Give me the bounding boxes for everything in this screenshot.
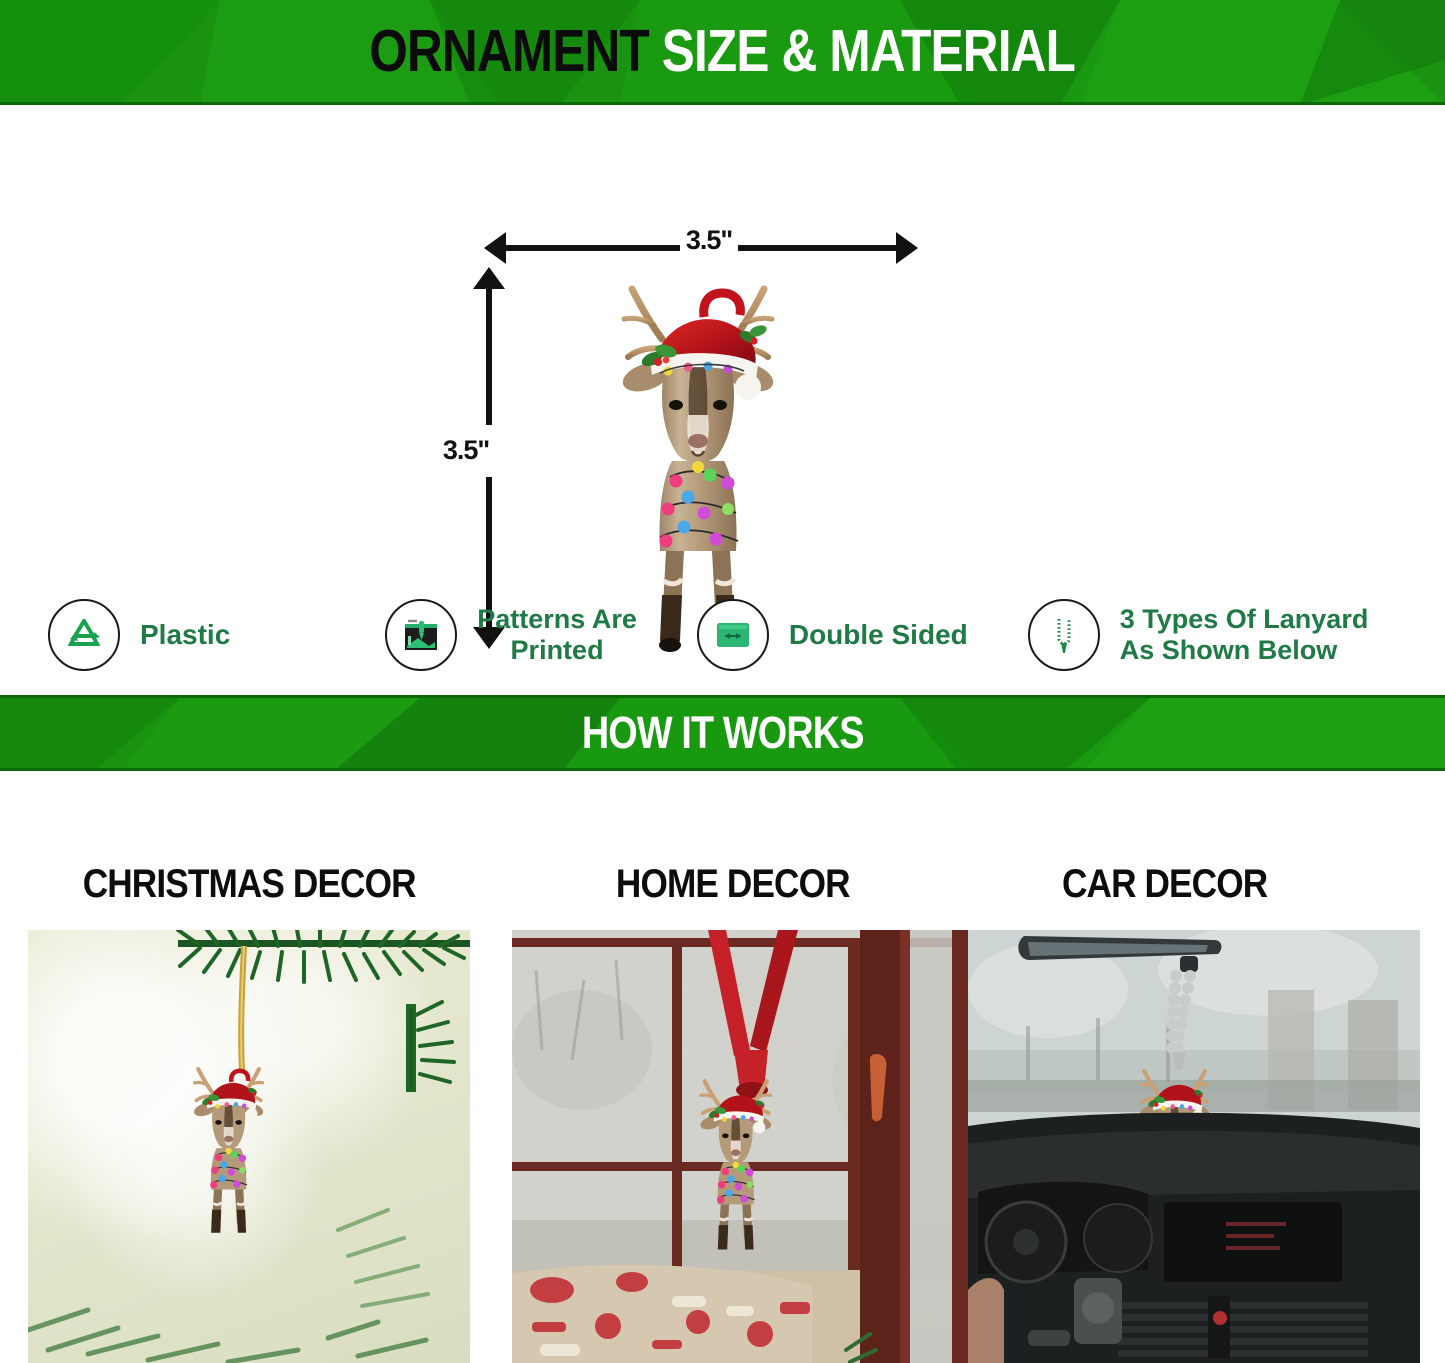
features-row: Plastic Patterns Are Printed xyxy=(0,575,1445,695)
feature-double-sided: Double Sided xyxy=(697,599,968,671)
double-sided-icon xyxy=(710,612,756,658)
tree-scene xyxy=(28,930,470,1363)
printer-icon xyxy=(398,612,444,658)
width-line-right xyxy=(726,245,912,251)
height-label: 3.5" xyxy=(435,435,497,466)
recycle-icon-circle xyxy=(48,599,120,671)
double-sided-icon-circle xyxy=(697,599,769,671)
header-banner: ORNAMENT SIZE & MATERIAL xyxy=(0,0,1445,105)
feature-lanyard: 3 Types Of Lanyard As Shown Below xyxy=(1028,599,1369,671)
feature-plastic: Plastic xyxy=(48,599,230,671)
photo-christmas-decor xyxy=(28,930,470,1363)
printer-icon-circle xyxy=(385,599,457,671)
width-line-left xyxy=(500,245,686,251)
size-diagram: 3.5" 3.5" xyxy=(0,105,1445,570)
how-it-works-title: HOW IT WORKS xyxy=(582,707,864,759)
how-it-works-banner: HOW IT WORKS xyxy=(0,695,1445,771)
header-title-light: SIZE & MATERIAL xyxy=(662,18,1075,84)
width-label: 3.5" xyxy=(680,225,738,256)
photo-car-decor xyxy=(968,930,1420,1363)
feature-printed-label: Patterns Are Printed xyxy=(477,604,637,666)
feature-double-sided-label: Double Sided xyxy=(789,619,968,651)
header-title-dark: ORNAMENT xyxy=(370,18,650,84)
lanyard-icon xyxy=(1041,612,1087,658)
recycle-icon xyxy=(62,613,106,657)
section-title-home-decor: HOME DECOR xyxy=(616,862,850,907)
lanyard-icon-circle xyxy=(1028,599,1100,671)
height-line-top xyxy=(486,283,492,425)
window-scene xyxy=(512,930,968,1363)
feature-plastic-label: Plastic xyxy=(140,619,230,651)
car-scene xyxy=(968,930,1420,1363)
width-arrow-right-head xyxy=(896,232,918,264)
feature-printed: Patterns Are Printed xyxy=(385,599,637,671)
photo-home-decor xyxy=(512,930,968,1363)
section-title-car-decor: CAR DECOR xyxy=(1062,862,1267,907)
header-title: ORNAMENT SIZE & MATERIAL xyxy=(370,17,1076,85)
section-title-christmas-decor: CHRISTMAS DECOR xyxy=(83,862,416,907)
feature-lanyard-label: 3 Types Of Lanyard As Shown Below xyxy=(1120,604,1369,666)
